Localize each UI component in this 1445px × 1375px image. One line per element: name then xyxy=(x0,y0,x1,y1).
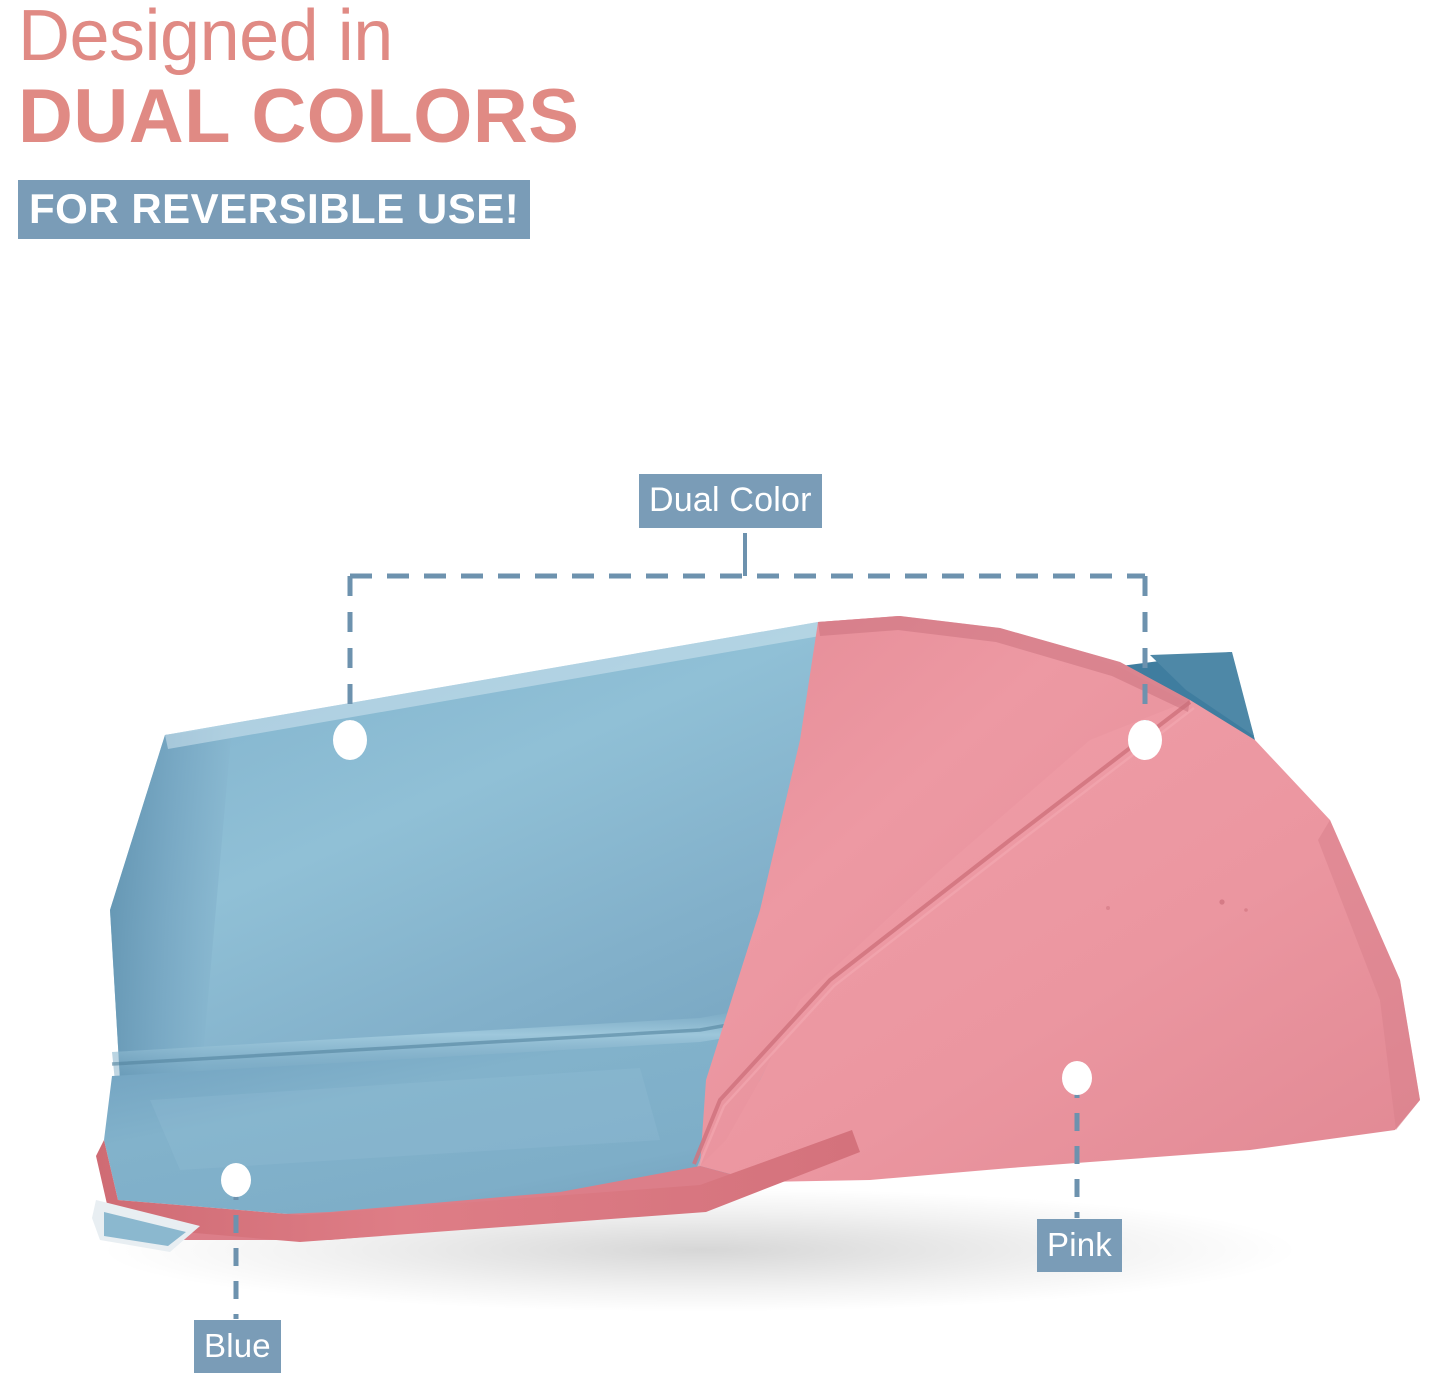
headline-block: Designed in DUAL COLORS FOR REVERSIBLE U… xyxy=(18,0,918,239)
blanket-illustration xyxy=(0,440,1445,1375)
callout-label-blue: Blue xyxy=(194,1320,281,1373)
headline-line-2: DUAL COLORS xyxy=(18,78,918,156)
subhead-banner: FOR REVERSIBLE USE! xyxy=(18,180,530,239)
headline-line-1: Designed in xyxy=(18,0,918,72)
subhead-wrap: FOR REVERSIBLE USE! xyxy=(18,180,918,239)
product-photo xyxy=(0,440,1445,1375)
callout-label-dual-color: Dual Color xyxy=(639,474,822,528)
infographic-canvas: Designed in DUAL COLORS FOR REVERSIBLE U… xyxy=(0,0,1445,1375)
callout-label-pink: Pink xyxy=(1037,1219,1122,1272)
